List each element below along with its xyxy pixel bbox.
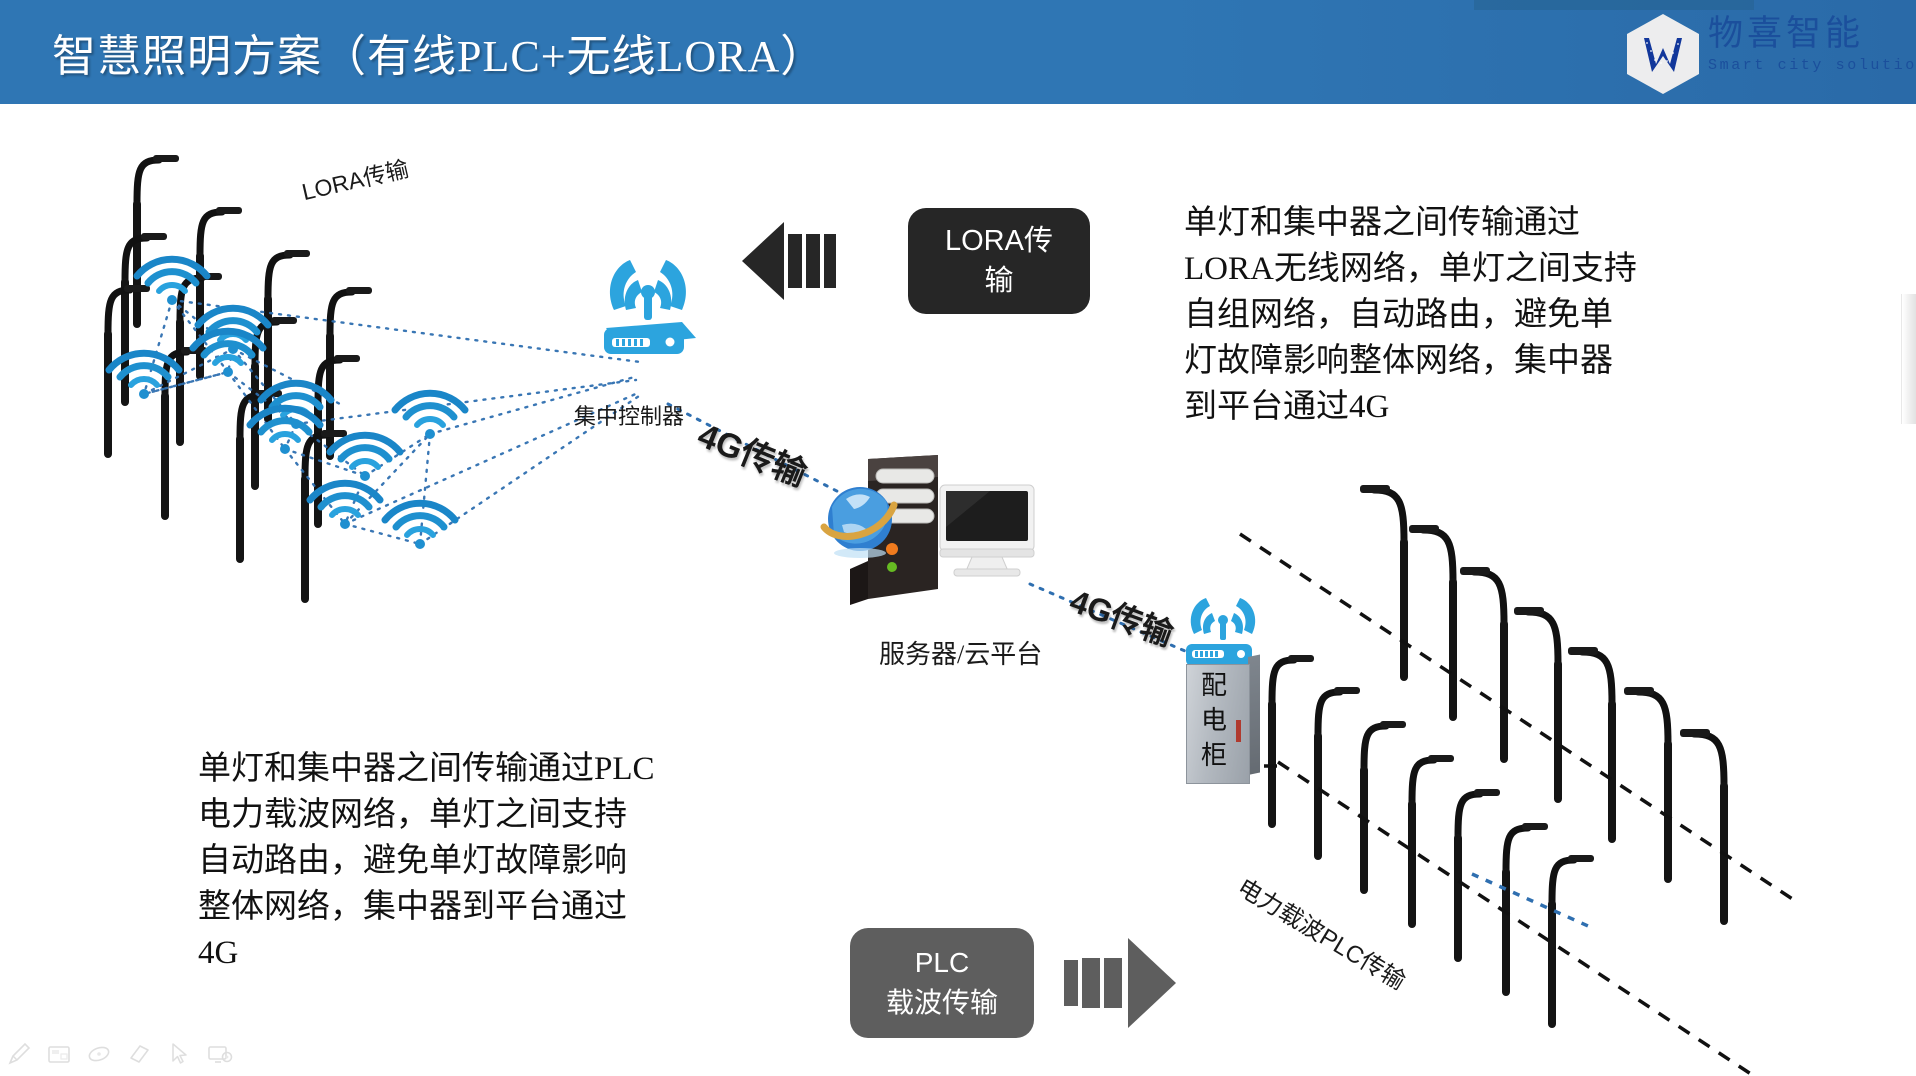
hexagon-w-logo-icon <box>1624 12 1702 96</box>
eraser-icon[interactable] <box>126 1041 152 1067</box>
logo-text-block: 物喜智能 Smart city solutions <box>1708 12 1916 76</box>
slide-canvas: 集中控制器 LORA传输 4G传输 4G传输 <box>0 104 1916 1076</box>
chip-plc-transmission[interactable]: PLC载波传输 <box>850 928 1034 1038</box>
concentrator-device[interactable] <box>596 252 700 370</box>
fast-forward-arrow-icon <box>1062 932 1180 1032</box>
lora-streetlight-mesh <box>108 155 642 599</box>
presentation-toolbar[interactable] <box>6 1036 234 1072</box>
cabinet-label: 配电柜 <box>1192 668 1236 773</box>
plc-streetlight-rows <box>1216 485 1800 1076</box>
chip-lora-transmission[interactable]: LORA传输 <box>908 208 1090 314</box>
laser-pointer-icon[interactable] <box>86 1041 112 1067</box>
monitor-icon <box>940 485 1034 576</box>
chip-plc-text: PLC载波传输 <box>886 943 998 1023</box>
server-cloud-platform[interactable] <box>820 449 1040 629</box>
pen-icon[interactable] <box>6 1041 32 1067</box>
server-label: 服务器/云平台 <box>879 634 1042 671</box>
fast-rewind-arrow-icon <box>740 220 860 302</box>
logo-tagline: Smart city solutions <box>1708 56 1916 76</box>
logo-company-name: 物喜智能 <box>1708 12 1916 56</box>
concentrator-label: 集中控制器 <box>574 399 684 431</box>
chip-lora-text: LORA传输 <box>945 221 1053 301</box>
plc-cable-back-row <box>1240 534 1800 904</box>
server-group-icon <box>820 449 1040 629</box>
cabinet-handle <box>1236 720 1241 742</box>
company-logo: 物喜智能 Smart city solutions <box>1624 8 1902 96</box>
paragraph-plc-description: 单灯和集中器之间传输通过PLC 电力载波网络，单灯之间支持 自动路由，避免单灯故… <box>198 746 718 976</box>
screen-options-icon[interactable] <box>206 1041 234 1067</box>
right-edge-panel <box>1901 294 1916 424</box>
wireless-router-icon <box>596 252 700 370</box>
paragraph-lora-description: 单灯和集中器之间传输通过 LORA无线网络，单灯之间支持 自组网络，自动路由，避… <box>1184 200 1684 430</box>
slide-header: 智慧照明方案（有线PLC+无线LORA） 物喜智能 Smart city sol… <box>0 0 1916 104</box>
cursor-arrow-icon[interactable] <box>166 1041 192 1067</box>
distribution-cabinet[interactable]: 配电柜 <box>1186 664 1260 782</box>
highlighter-slide-icon[interactable] <box>46 1041 72 1067</box>
plc-cable-front-row <box>1278 762 1760 1076</box>
page-title: 智慧照明方案（有线PLC+无线LORA） <box>52 20 825 84</box>
